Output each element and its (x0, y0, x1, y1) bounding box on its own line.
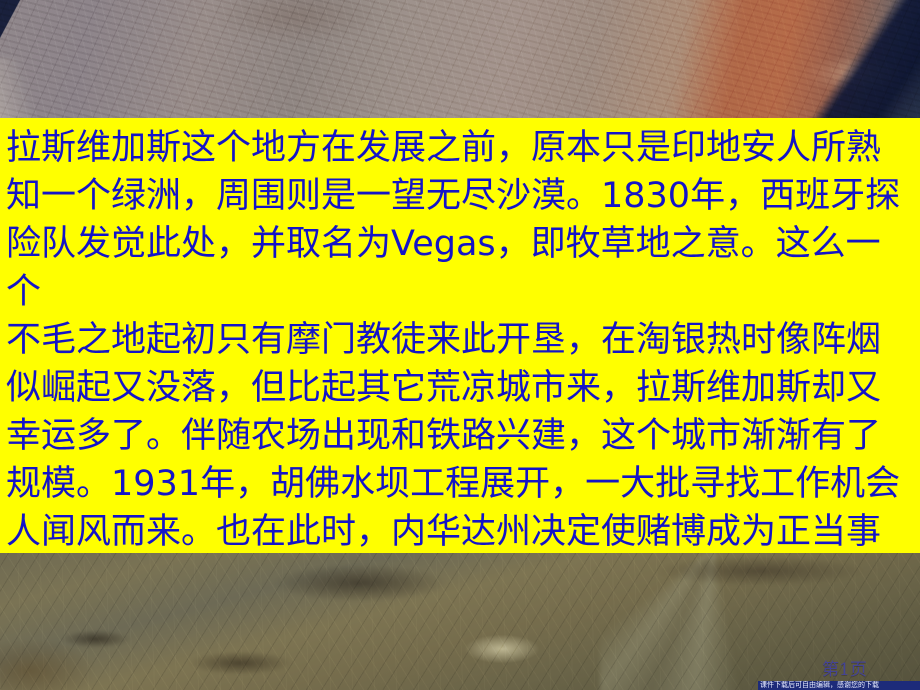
footer-watermark-text: 课件下载后可自由编辑，感谢您的下载 (758, 681, 920, 690)
page-number: 第1页 (822, 655, 867, 680)
footer-watermark-strip: 课件下载后可自由编辑，感谢您的下载 (758, 681, 920, 690)
slide-canvas: 拉斯维加斯这个地方在发展之前，原本只是印地安人所熟 知一个绿洲，周围则是一望无尽… (0, 0, 920, 690)
photo-terrain-texture-top (0, 0, 920, 120)
photo-terrain-texture-bottom (0, 553, 920, 690)
body-text-panel: 拉斯维加斯这个地方在发展之前，原本只是印地安人所熟 知一个绿洲，周围则是一望无尽… (0, 118, 920, 553)
satellite-desert-photo-bottom (0, 553, 920, 690)
satellite-desert-photo-top (0, 0, 920, 120)
